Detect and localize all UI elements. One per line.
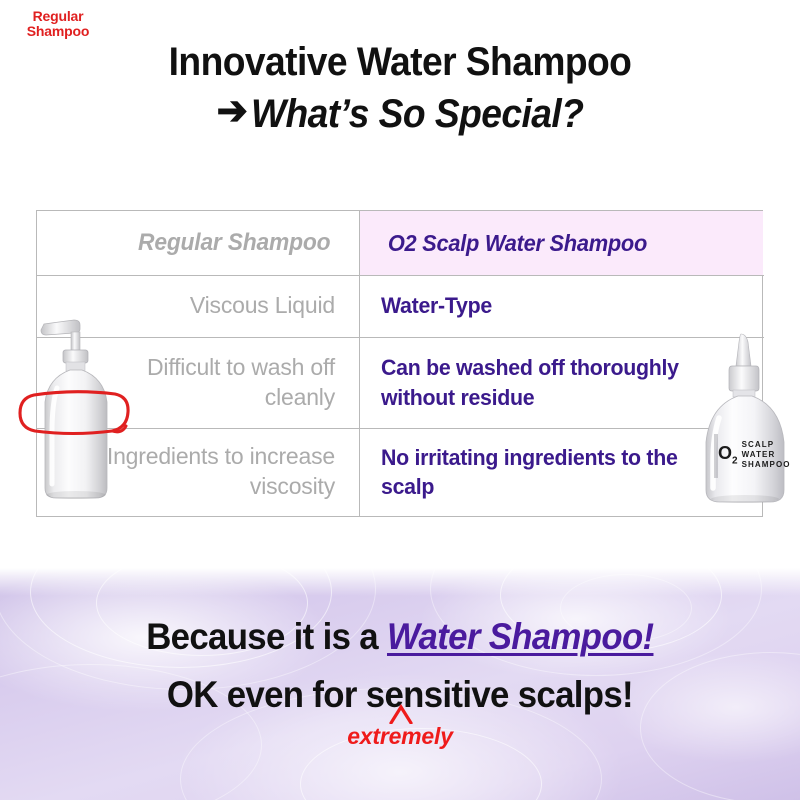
o2-brand-letter: O xyxy=(718,443,732,463)
footer-line-1: Because it is a Water Shampoo! xyxy=(0,618,800,656)
headline-line-2: ➔What’s So Special? xyxy=(28,94,772,134)
footer-line-1-plain: Because it is a xyxy=(146,616,387,657)
table-header-right: O2 Scalp Water Shampoo xyxy=(359,211,762,275)
o2-bottle-label: O2 SCALP WATER SHAMPOO xyxy=(718,440,790,471)
callout-line-1: Regular xyxy=(33,9,84,24)
table-header-right-label: O2 Scalp Water Shampoo xyxy=(388,230,647,257)
callout-line-2: Shampoo xyxy=(27,24,89,39)
o2-scalp-water-shampoo-bottle-image xyxy=(694,330,798,508)
infographic-page: Innovative Water Shampoo ➔What’s So Spec… xyxy=(0,0,800,800)
regular-shampoo-callout-text: Regular Shampoo xyxy=(0,0,116,48)
o2-brand-subscript: 2 xyxy=(732,456,738,467)
comparison-table: Regular Shampoo O2 Scalp Water Shampoo V… xyxy=(36,210,763,517)
arrow-icon: ➔ xyxy=(217,91,248,131)
table-cell-right-1: Water-Type xyxy=(381,291,492,320)
o2-label-words: SCALP WATER SHAMPOO xyxy=(742,440,791,471)
o2-label-line-3: SHAMPOO xyxy=(742,460,791,470)
insertion-word-annotation: extremely xyxy=(0,723,800,750)
footer-line-1-emphasis: Water Shampoo! xyxy=(387,616,653,657)
table-header-left-label: Regular Shampoo xyxy=(138,229,330,257)
headline-line-1: Innovative Water Shampoo xyxy=(28,42,772,82)
footer-line-1-wrap: Because it is a Water Shampoo! xyxy=(146,618,653,656)
insertion-word-text: extremely xyxy=(347,723,453,749)
o2-label-line-1: SCALP xyxy=(742,440,791,450)
table-row: Water-Type xyxy=(359,275,762,337)
table-cell-right-3: No irritating ingredients to the scalp xyxy=(381,443,682,502)
table-cell-left-1: Viscous Liquid xyxy=(190,291,335,321)
table-cell-right-2: Can be washed off thoroughly without res… xyxy=(381,353,701,412)
regular-shampoo-callout-oval xyxy=(16,388,132,436)
page-title: Innovative Water Shampoo ➔What’s So Spec… xyxy=(0,42,800,134)
insertion-caret-icon xyxy=(388,704,414,724)
o2-brand-mark: O2 xyxy=(718,444,738,467)
table-header-left: Regular Shampoo xyxy=(37,211,357,275)
panel-top-fade xyxy=(0,568,800,596)
o2-label-line-2: WATER xyxy=(742,450,791,460)
headline-line-2-text: What’s So Special? xyxy=(251,92,583,136)
